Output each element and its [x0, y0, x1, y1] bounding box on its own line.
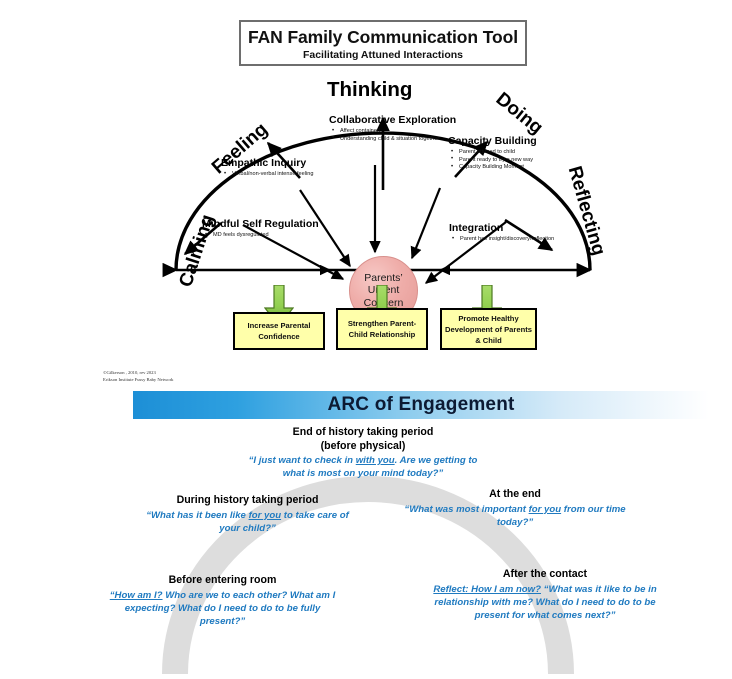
outcome-box-increase-parental-confidence: Increase Parental Confidence — [233, 312, 325, 350]
segment-bullets: Affect contained Understanding child & s… — [329, 128, 459, 143]
outcome-box-strengthen-parent-child-relationship: Strengthen Parent-Child Relationship — [336, 308, 428, 350]
page-subtitle: Facilitating Attuned Interactions — [241, 48, 525, 62]
segment-bullets: Parent has insight/discovery/reflection — [449, 236, 599, 244]
arc-block-heading: After the contact — [425, 568, 665, 582]
page-title-box: FAN Family Communication Tool Facilitati… — [239, 20, 527, 66]
segment-bullet: MD feels dysregulated — [202, 232, 342, 240]
segment-title: Collaborative Exploration — [329, 114, 459, 126]
fan-segment-collaborative-exploration: Collaborative Exploration Affect contain… — [329, 114, 459, 143]
segment-bullet: Affect contained — [329, 128, 459, 136]
arc-label-thinking: Thinking — [327, 78, 412, 102]
quote-underline: “How am I? — [110, 590, 163, 601]
segment-bullet: Verbal/non-verbal intense feeling — [221, 171, 371, 179]
arc-block-quote: “What was most important for you from ou… — [400, 503, 630, 529]
segment-bullet: Parent attuned to child — [448, 149, 556, 157]
arc-block-quote: “What has it been like for you to take c… — [140, 509, 355, 535]
segment-bullets: Verbal/non-verbal intense feeling — [221, 171, 371, 179]
segment-bullets: Parent attuned to child Parent ready to … — [448, 149, 556, 172]
fan-segment-mindful-self-regulation: Mindful Self Regulation MD feels dysregu… — [202, 218, 342, 240]
arc-block-before-entering-room: Before entering room “How am I? Who are … — [105, 574, 340, 628]
segment-bullet: Parent ready to try a new way — [448, 157, 556, 165]
arc-block-heading: Before entering room — [105, 574, 340, 588]
segment-bullet: Parent has insight/discovery/reflection — [449, 236, 599, 244]
arc-block-at-the-end: At the end “What was most important for … — [400, 488, 630, 529]
arc-block-heading: During history taking period — [140, 494, 355, 508]
segment-title: Capacity Building — [448, 135, 556, 147]
fan-diagram: Calming Feeling Thinking Doing Reflectin… — [0, 70, 732, 370]
arc-block-quote: Reflect: How I am now? “What was it like… — [425, 583, 665, 622]
segment-bullets: MD feels dysregulated — [202, 232, 342, 240]
arc-of-engagement-banner: ARC of Engagement — [133, 391, 709, 419]
arc-block-after-the-contact: After the contact Reflect: How I am now?… — [425, 568, 665, 622]
segment-bullet: Understanding child & situation together — [329, 136, 459, 144]
arc-block-heading: At the end — [400, 488, 630, 502]
arc-block-during-history-taking-period: During history taking period “What has i… — [140, 494, 355, 535]
arc-banner-title: ARC of Engagement — [327, 394, 514, 416]
quote-underline: for you — [249, 510, 282, 521]
segment-title: Empathic Inquiry — [221, 157, 371, 169]
circle-line-1: Parents’ — [364, 272, 403, 285]
fan-segment-integration: Integration Parent has insight/discovery… — [449, 222, 599, 244]
quote-underline: for you — [529, 504, 562, 515]
segment-title: Integration — [449, 222, 599, 234]
quote-underline: Reflect: How I am now? — [433, 584, 541, 595]
arc-block-heading: End of history taking period (before phy… — [248, 426, 478, 453]
segment-title: Mindful Self Regulation — [202, 218, 342, 230]
fan-segment-capacity-building: Capacity Building Parent attuned to chil… — [448, 135, 556, 172]
copyright-line-2: Erikson Institute Fussy Baby Network — [103, 377, 173, 384]
converge-arrow-b — [412, 188, 440, 258]
fan-segment-empathic-inquiry: Empathic Inquiry Verbal/non-verbal inten… — [221, 157, 371, 179]
outcome-box-promote-healthy-development: Promote Healthy Development of Parents &… — [440, 308, 537, 350]
arc-of-engagement-diagram: End of history taking period (before phy… — [0, 424, 732, 679]
segment-bullet: Capacity Building Moment — [448, 164, 556, 172]
quote-pre: “What was most important — [404, 504, 528, 515]
arc-block-quote: “I just want to check in with you. Are w… — [248, 454, 478, 480]
quote-pre: “I just want to check in — [249, 455, 356, 466]
page-title: FAN Family Communication Tool — [241, 27, 525, 47]
arc-block-quote: “How am I? Who are we to each other? Wha… — [105, 589, 340, 628]
quote-pre: “What has it been like — [146, 510, 248, 521]
quote-underline: with you — [356, 455, 395, 466]
arc-block-end-of-history-taking-period: End of history taking period (before phy… — [248, 426, 478, 480]
copyright-notice: ©Gilkerson , 2010, rev 2023 Erikson Inst… — [103, 370, 173, 383]
